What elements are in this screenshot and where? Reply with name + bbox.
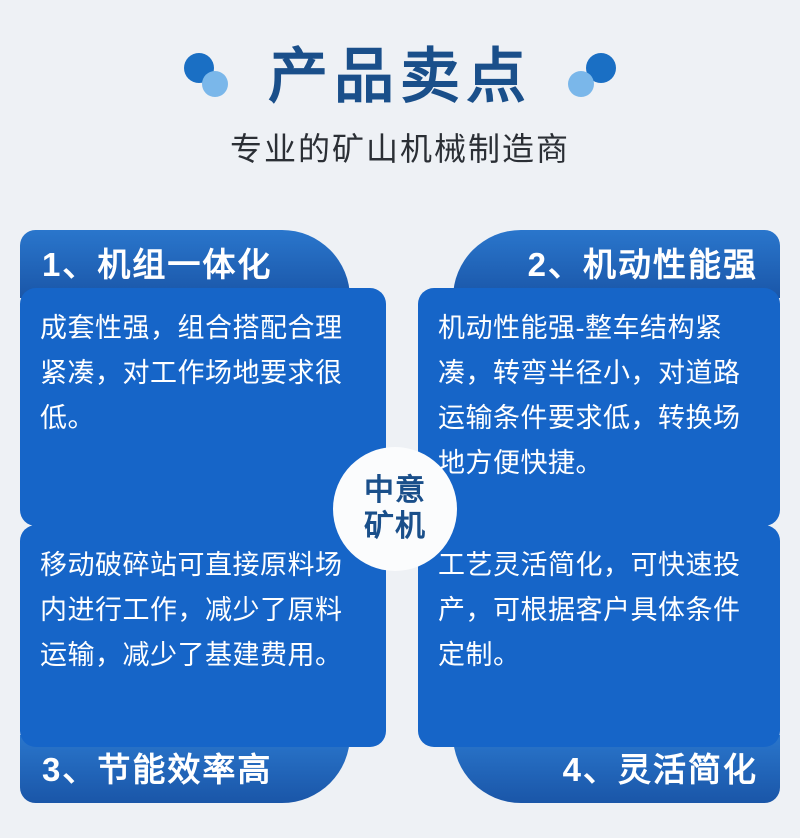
center-brand-badge-line1: 中意	[364, 473, 426, 509]
feature-card-4: 工艺灵活简化，可快速投产，可根据客户具体条件定制。 4、灵活简化	[418, 525, 780, 803]
page-subtitle: 专业的矿山机械制造商	[0, 124, 800, 170]
title-row: 产品卖点	[0, 34, 800, 120]
center-brand-badge: 中意 矿机	[333, 447, 457, 571]
feature-card-4-body: 工艺灵活简化，可快速投产，可根据客户具体条件定制。	[418, 525, 780, 747]
feature-card-2: 2、机动性能强 机动性能强-整车结构紧凑，转弯半径小，对道路运输条件要求低，转换…	[418, 230, 780, 526]
dot-light-icon	[568, 71, 594, 97]
dot-light-icon	[202, 71, 228, 97]
feature-card-2-body: 机动性能强-整车结构紧凑，转弯半径小，对道路运输条件要求低，转换场地方便快捷。	[418, 288, 780, 526]
feature-card-1: 1、机组一体化 成套性强，组合搭配合理紧凑，对工作场地要求很低。	[20, 230, 386, 526]
two-dots-icon-left	[182, 51, 234, 103]
feature-card-1-body: 成套性强，组合搭配合理紧凑，对工作场地要求很低。	[20, 288, 386, 526]
feature-card-3: 移动破碎站可直接原料场内进行工作，减少了原料运输，减少了基建费用。 3、节能效率…	[20, 525, 386, 803]
two-dots-icon-right	[566, 51, 618, 103]
page-title: 产品卖点	[268, 47, 532, 107]
page-header: 产品卖点 专业的矿山机械制造商	[0, 0, 800, 200]
center-brand-badge-line2: 矿机	[364, 509, 426, 545]
feature-card-3-body: 移动破碎站可直接原料场内进行工作，减少了原料运输，减少了基建费用。	[20, 525, 386, 747]
